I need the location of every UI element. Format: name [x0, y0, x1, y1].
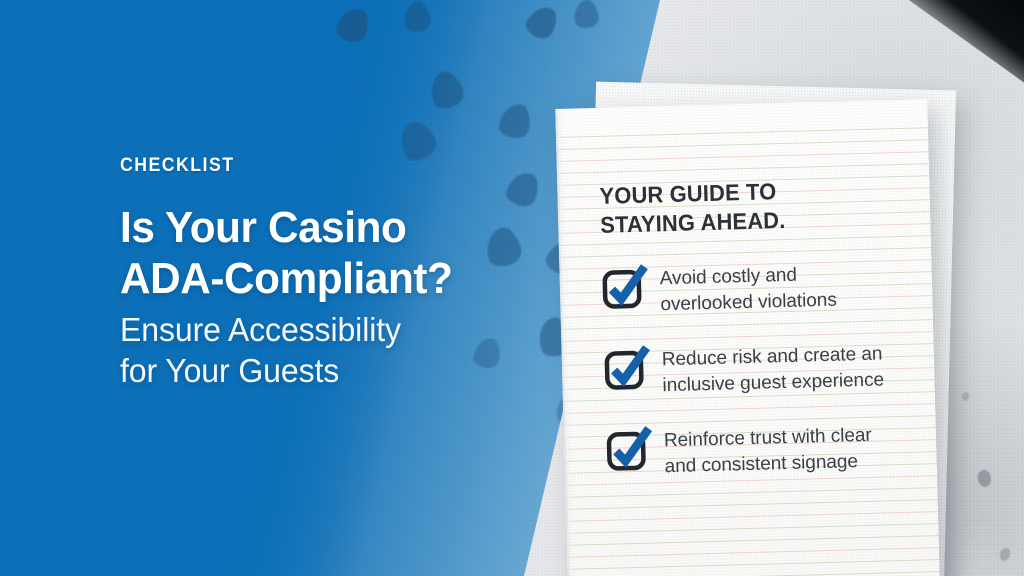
rule-line — [566, 511, 938, 522]
checklist: Avoid costly and overlooked violations — [601, 258, 917, 482]
list-item-text: Reinforce trust with clear and consisten… — [664, 421, 873, 480]
headline-line-2: ADA-Compliant? — [120, 253, 533, 304]
ink-blot — [424, 67, 467, 112]
headline-line-1: Is Your Casino — [120, 202, 533, 253]
card-heading: YOUR GUIDE TO STAYING AHEAD. — [599, 174, 895, 240]
list-item-line-1: Reduce risk and create an — [662, 343, 883, 370]
list-item-line-1: Avoid costly and — [659, 265, 797, 290]
eyebrow-label: CHECKLIST — [120, 155, 520, 177]
rule-line — [557, 163, 929, 174]
list-item-text: Avoid costly and overlooked violations — [659, 260, 837, 319]
list-item-line-1: Reinforce trust with clear — [664, 425, 872, 451]
ink-blot — [522, 1, 561, 42]
ink-blot — [333, 4, 372, 46]
rule-line — [556, 139, 928, 150]
ink-blot — [497, 102, 532, 141]
ink-blot — [401, 0, 433, 34]
note-card-stack: YOUR GUIDE TO STAYING AHEAD. Avoid costl… — [556, 78, 976, 576]
subhead-line-1: Ensure Accessibility — [120, 309, 537, 350]
list-item-line-2: and consistent signage — [664, 451, 858, 477]
rule-line — [568, 571, 940, 576]
page-title: Is Your Casino ADA-Compliant? — [120, 202, 533, 304]
rule-line — [566, 523, 938, 534]
card-content: YOUR GUIDE TO STAYING AHEAD. Avoid costl… — [599, 174, 917, 509]
rule-line — [567, 535, 939, 546]
rule-line — [567, 547, 939, 558]
checked-checkbox-icon — [604, 348, 649, 393]
checked-checkbox-icon — [601, 267, 646, 312]
poster-canvas: CHECKLIST Is Your Casino ADA-Compliant? … — [0, 0, 1024, 576]
rule-line — [556, 127, 928, 138]
list-item-text: Reduce risk and create an inclusive gues… — [661, 339, 884, 399]
list-item: Reduce risk and create an inclusive gues… — [603, 339, 914, 401]
list-item-line-2: inclusive guest experience — [662, 369, 884, 396]
list-item: Avoid costly and overlooked violations — [601, 258, 912, 320]
ink-blot — [572, 0, 600, 30]
rule-line — [557, 151, 929, 162]
page-subtitle: Ensure Accessibility for Your Guests — [120, 309, 537, 391]
front-sheet: YOUR GUIDE TO STAYING AHEAD. Avoid costl… — [555, 99, 940, 576]
deckled-edge — [555, 109, 578, 576]
rule-line — [567, 559, 939, 570]
list-item: Reinforce trust with clear and consisten… — [606, 420, 917, 482]
list-item-line-2: overlooked violations — [660, 290, 837, 316]
subhead-line-2: for Your Guests — [120, 350, 537, 391]
checked-checkbox-icon — [606, 429, 651, 474]
hero-copy: CHECKLIST Is Your Casino ADA-Compliant? … — [120, 155, 550, 391]
